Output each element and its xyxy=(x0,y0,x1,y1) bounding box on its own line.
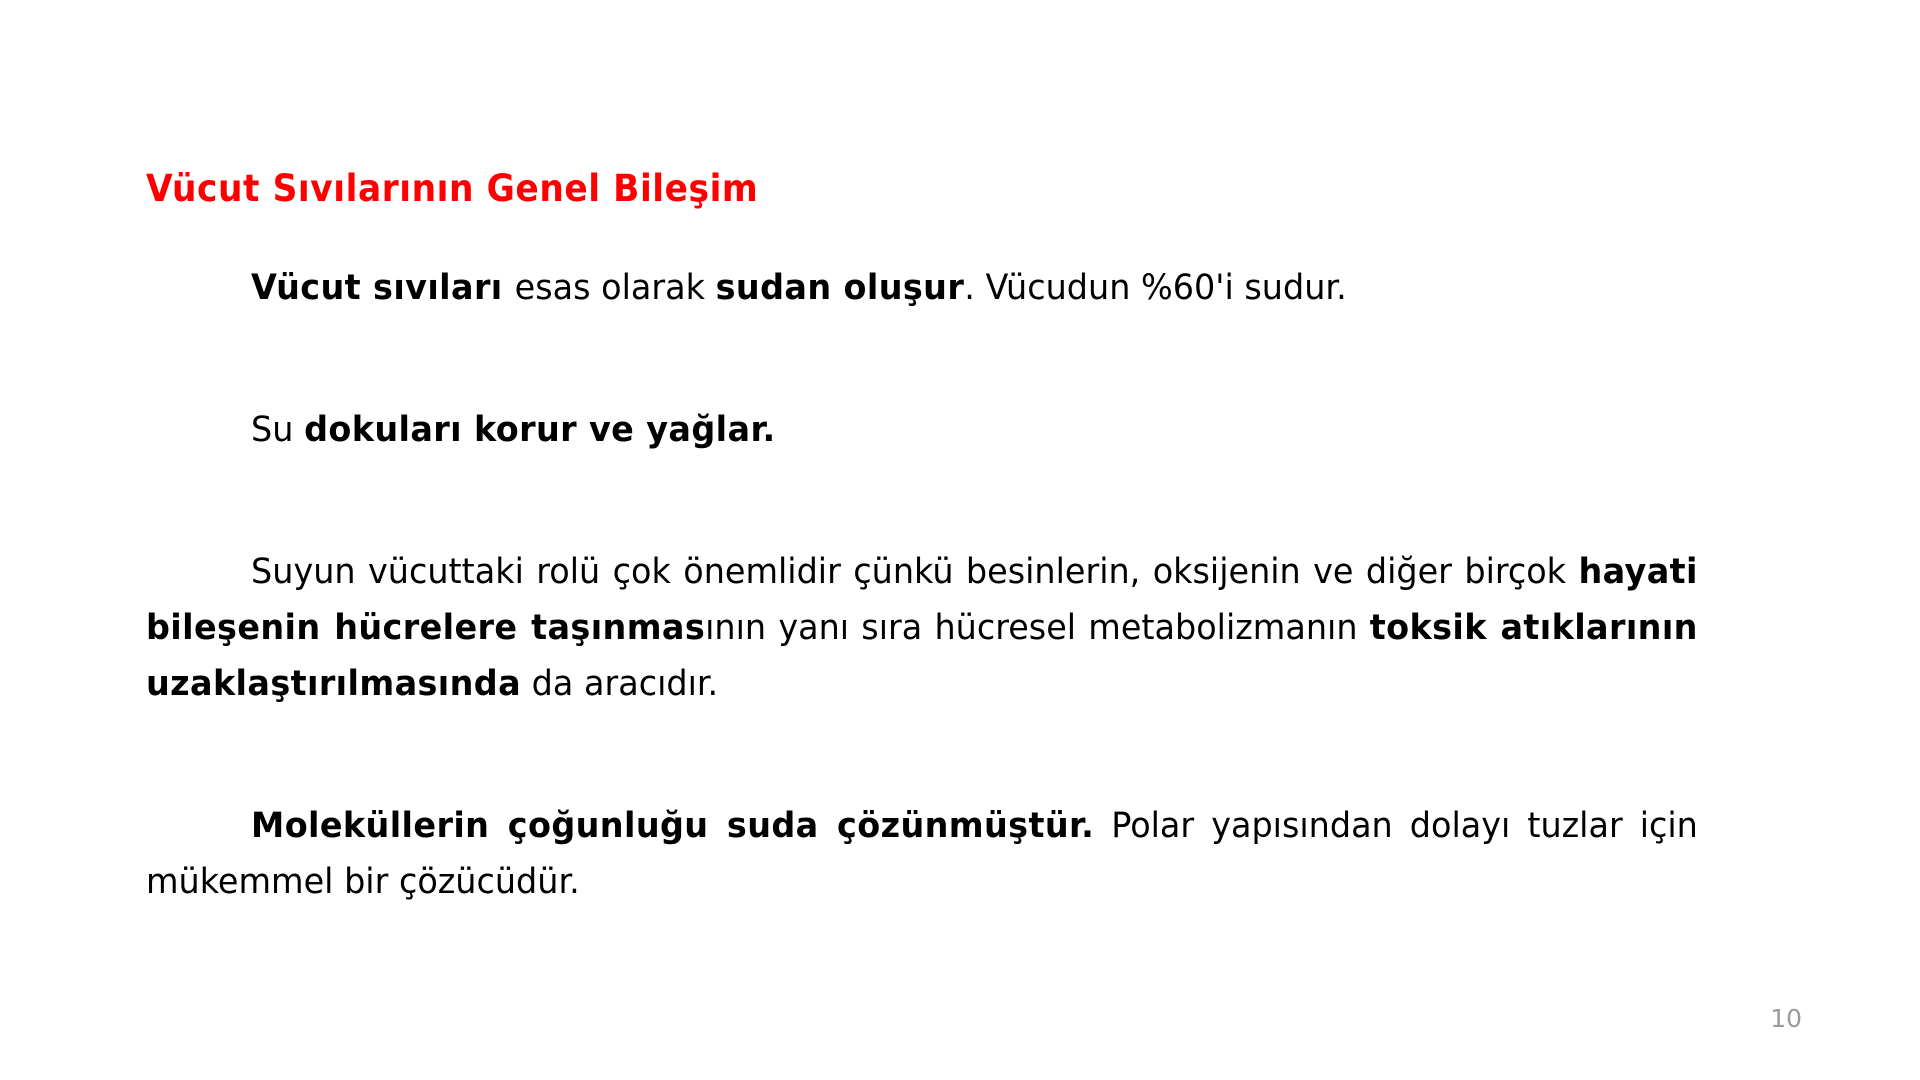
paragraph-3-run-1: Suyun vücuttaki rolü çok önemlidir çünkü… xyxy=(251,552,1578,592)
slide-title: Vücut Sıvılarının Genel Bileşim xyxy=(146,167,1653,211)
paragraph-1-run-3: sudan oluşur xyxy=(716,268,965,308)
paragraph-4: Moleküllerin çoğunluğu suda çözünmüştür.… xyxy=(146,798,1698,910)
slide-canvas: Vücut Sıvılarının Genel Bileşim Vücut sı… xyxy=(0,0,1920,1080)
paragraph-1-run-4: . Vücudun %60'i sudur. xyxy=(964,268,1347,308)
paragraph-spacer-3 xyxy=(146,712,1771,798)
paragraph-2: Su dokuları korur ve yağlar. xyxy=(146,402,1698,458)
paragraph-1-run-1: Vücut sıvıları xyxy=(251,268,515,308)
paragraph-3-run-3: ının yanı sıra hücresel metabolizmanın xyxy=(705,608,1370,648)
slide-page-number: 10 xyxy=(1770,1004,1802,1034)
paragraph-2-run-1: Su xyxy=(251,410,304,450)
paragraph-3-run-5: da aracıdır. xyxy=(521,664,718,704)
paragraph-4-run-1: Moleküllerin çoğunluğu suda çözünmüştür. xyxy=(251,806,1094,846)
paragraph-3: Suyun vücuttaki rolü çok önemlidir çünkü… xyxy=(146,544,1698,712)
slide-body: Vücut sıvıları esas olarak sudan oluşur.… xyxy=(146,260,1771,910)
paragraph-1: Vücut sıvıları esas olarak sudan oluşur.… xyxy=(146,260,1698,316)
paragraph-spacer-1 xyxy=(146,316,1771,402)
paragraph-spacer-2 xyxy=(146,458,1771,544)
paragraph-1-run-2: esas olarak xyxy=(515,268,716,308)
paragraph-2-run-2: dokuları korur ve yağlar. xyxy=(304,410,776,450)
